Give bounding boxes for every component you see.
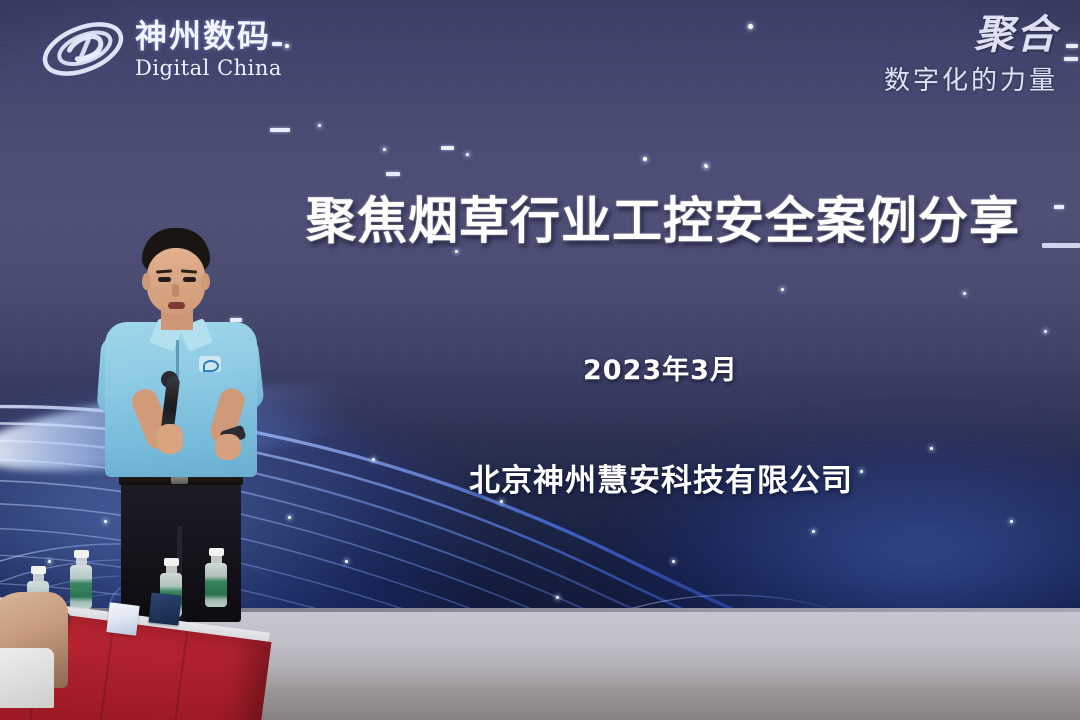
particle-dash: [1054, 205, 1064, 209]
particle-dot: [500, 500, 503, 503]
particle-dash: [386, 172, 400, 176]
presenter-right-eye: [183, 277, 196, 282]
spiral-swirl-icon: [40, 18, 126, 80]
presenter-left-hand: [157, 424, 183, 454]
particle-dot: [930, 447, 933, 450]
water-bottle: [70, 550, 92, 609]
particle-dot: [643, 157, 647, 161]
brand-name-en: Digital China: [135, 58, 282, 79]
event-slogan: 聚合 数字化的力量: [884, 16, 1058, 97]
particle-dot: [612, 468, 615, 471]
particle-dot: [288, 516, 291, 519]
particle-dot: [1044, 330, 1047, 333]
brand-logo: 神州数码 Digital China: [40, 18, 282, 80]
presenter-left-eye: [158, 277, 171, 282]
particle-dot: [318, 124, 321, 127]
decor-tick-mark: [1042, 243, 1080, 248]
particle-dot: [383, 148, 386, 151]
water-bottle: [205, 548, 227, 607]
particle-dash: [1064, 57, 1078, 61]
particle-dot: [748, 24, 753, 29]
slide-title: 聚焦烟草行业工控安全案例分享: [306, 181, 1020, 253]
particle-dash: [441, 146, 454, 150]
presenter-left-ear: [142, 273, 151, 290]
presenter-mouth: [168, 302, 185, 309]
conference-photo-scene: 神州数码 Digital China 聚合 数字化的力量 聚焦烟草行业工控安全案…: [0, 0, 1080, 720]
particle-dot: [672, 560, 675, 563]
particle-dash: [270, 128, 290, 132]
brand-name-cn: 神州数码: [135, 20, 282, 52]
presenter-right-hand: [215, 434, 241, 460]
presenter-nose: [172, 284, 179, 297]
particle-dash: [1066, 44, 1078, 48]
name-card: [106, 602, 139, 635]
particle-dot: [781, 288, 784, 291]
particle-dot: [372, 458, 375, 461]
particle-dot: [1010, 520, 1013, 523]
presenter-right-ear: [201, 273, 210, 290]
particle-dash: [272, 42, 282, 46]
shirt-logo-badge: [199, 356, 221, 372]
particle-dot: [963, 292, 966, 295]
particle-dot: [455, 250, 458, 253]
particle-dot: [345, 560, 348, 563]
name-card: [149, 593, 182, 626]
particle-dot: [466, 153, 469, 156]
seated-attendee-papers: [0, 648, 54, 708]
particle-dot: [285, 44, 289, 48]
slogan-calligraphy: 聚合: [884, 16, 1058, 54]
slogan-subtitle: 数字化的力量: [884, 60, 1058, 97]
slide-date: 2023年3月: [583, 348, 738, 387]
particle-dot: [705, 165, 708, 168]
particle-dot: [860, 470, 863, 473]
particle-dot: [556, 596, 559, 599]
particle-dot: [812, 530, 815, 533]
slide-company-name: 北京神州慧安科技有限公司: [469, 455, 853, 500]
